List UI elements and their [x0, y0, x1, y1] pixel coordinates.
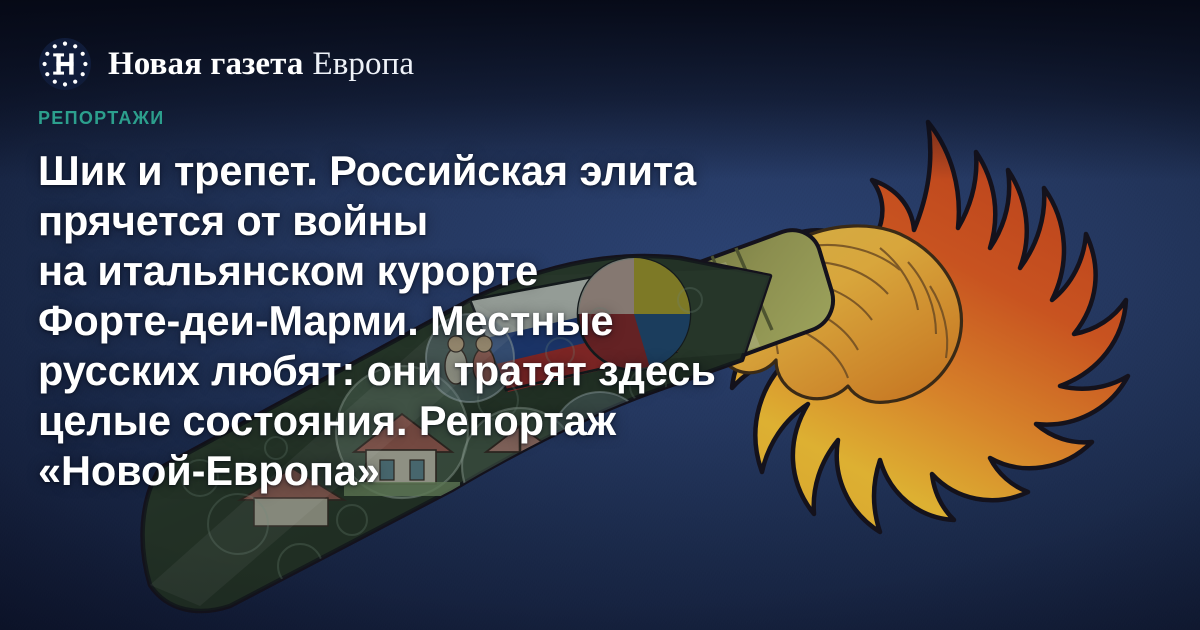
headline-line: «Новой-Европа» — [38, 446, 943, 496]
headline-line: русских любят: они тратят здесь — [38, 346, 943, 396]
social-share-card: Новая газета Европа РЕПОРТАЖИ Шик и треп… — [0, 0, 1200, 630]
card-content: Новая газета Европа РЕПОРТАЖИ Шик и треп… — [0, 0, 1200, 630]
wordmark-bold: Новая газета — [108, 48, 303, 81]
masthead[interactable]: Новая газета Европа — [38, 36, 1160, 92]
headline-line: прячется от войны — [38, 196, 943, 246]
page-title: Шик и трепет. Российская элита прячется … — [38, 146, 943, 496]
wordmark[interactable]: Новая газета Европа — [108, 48, 414, 81]
headline-line: целые состояния. Репортаж — [38, 396, 943, 446]
headline-line: Форте-деи-Марми. Местные — [38, 296, 943, 346]
headline-line: Шик и трепет. Российская элита — [38, 146, 943, 196]
headline-line: на итальянском курорте — [38, 246, 943, 296]
rubric-label[interactable]: РЕПОРТАЖИ — [38, 108, 1160, 129]
wordmark-light: Европа — [312, 48, 414, 81]
novaya-gazeta-europe-logo-icon[interactable] — [38, 37, 92, 91]
